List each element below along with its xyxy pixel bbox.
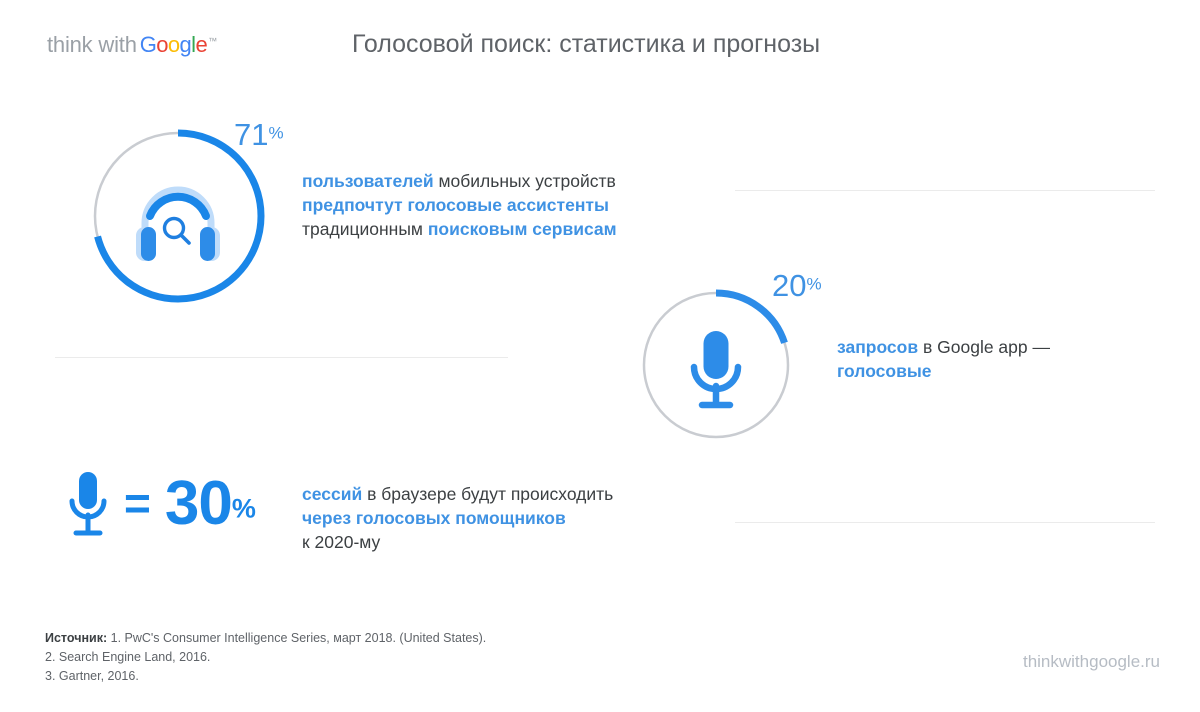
divider-middle-left: [55, 357, 508, 358]
source-line-2: 2. Search Engine Land, 2016.: [45, 648, 486, 667]
divider-top-right: [735, 190, 1155, 191]
source-note: Источник: 1. PwC's Consumer Intelligence…: [45, 629, 486, 685]
source-label: Источник:: [45, 631, 107, 645]
stat-text-20: запросов в Google app — голосовые: [837, 335, 1050, 383]
site-url: thinkwithgoogle.ru: [1023, 652, 1160, 672]
stat-value-30: 30%: [165, 473, 256, 535]
donut-chart-20: [638, 287, 794, 443]
page-title: Голосовой поиск: статистика и прогнозы: [352, 30, 820, 59]
equation-30: = 30%: [66, 470, 256, 542]
stat-text-71-line-1: пользователей мобильных устройств: [302, 169, 617, 193]
headphones-search-icon: [136, 190, 220, 261]
infographic-canvas: think withGoogle™ Голосовой поиск: стати…: [0, 0, 1200, 712]
brand-with: with: [98, 32, 136, 57]
stat-text-30-line-2: через голосовых помощников: [302, 506, 613, 530]
trademark-mark: ™: [208, 36, 217, 46]
microphone-icon-small: [66, 470, 110, 542]
stat-text-30-line-1: сессий в браузере будут происходить: [302, 482, 613, 506]
source-line-1: Источник: 1. PwC's Consumer Intelligence…: [45, 629, 486, 648]
stat-value-20: 20%: [772, 270, 822, 301]
brand-think: think: [47, 32, 92, 57]
equals-sign: =: [124, 480, 151, 526]
stat-text-71: пользователей мобильных устройств предпо…: [302, 169, 617, 241]
microphone-icon: [694, 331, 738, 405]
stat-text-20-line-2: голосовые: [837, 359, 1050, 383]
stat-text-71-line-2: предпочтут голосовые ассистенты: [302, 193, 617, 217]
stat-value-71: 71%: [234, 119, 284, 150]
source-line-3: 3. Gartner, 2016.: [45, 667, 486, 686]
think-with-google-logo: think withGoogle™: [47, 32, 217, 58]
google-wordmark: Google: [140, 32, 207, 57]
donut-chart-71: [88, 126, 268, 306]
stat-text-30-line-3: к 2020-му: [302, 530, 613, 554]
stat-text-20-line-1: запросов в Google app —: [837, 335, 1050, 359]
stat-text-30: сессий в браузере будут происходить чере…: [302, 482, 613, 554]
divider-bottom-right: [735, 522, 1155, 523]
stat-text-71-line-3: традиционным поисковым сервисам: [302, 217, 617, 241]
